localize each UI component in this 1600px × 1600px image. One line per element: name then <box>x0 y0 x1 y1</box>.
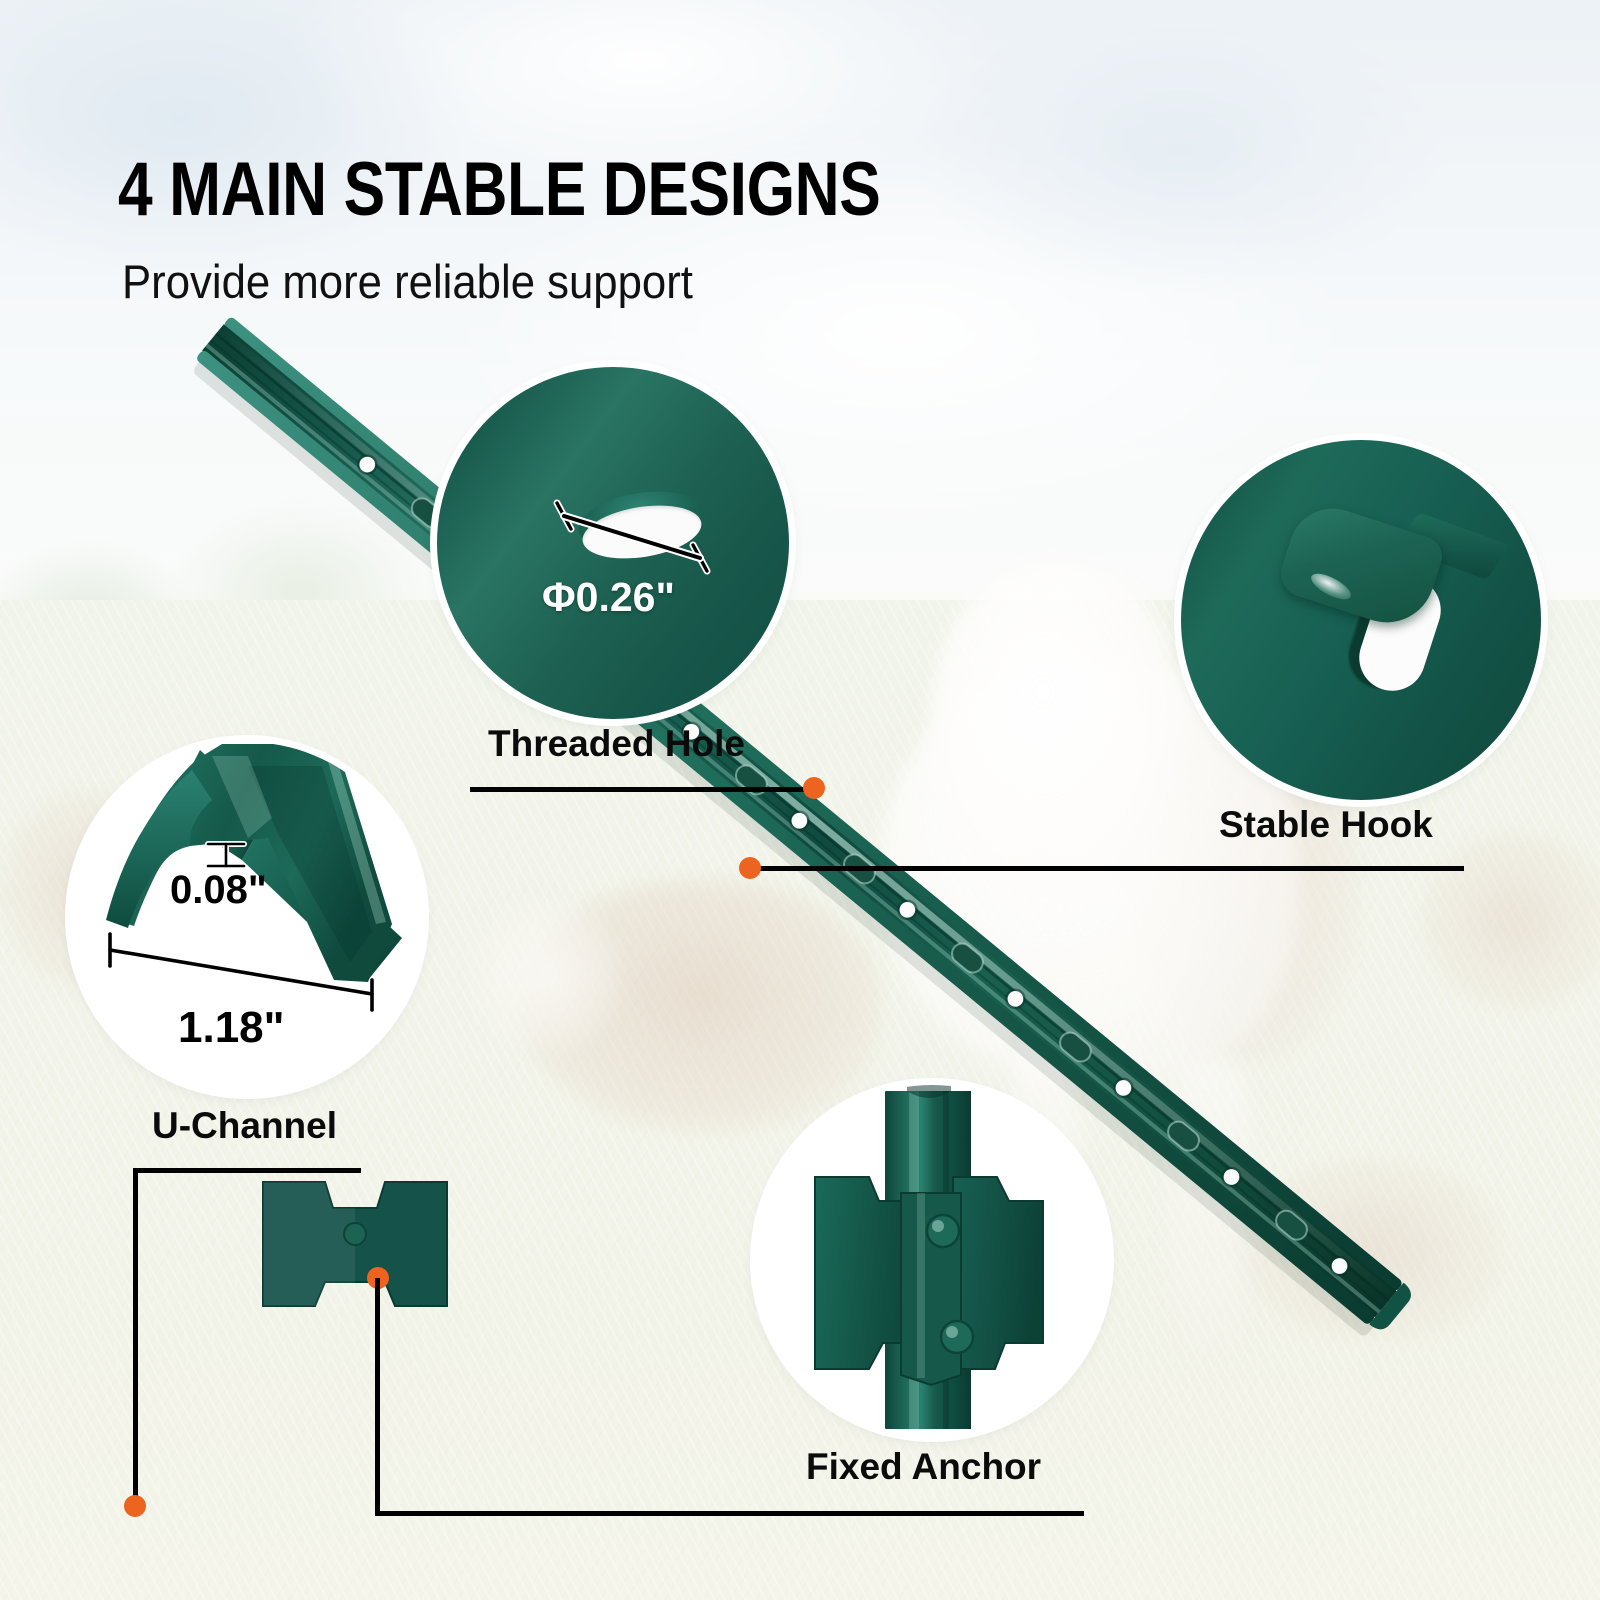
leader-line-fixed-anchor-horizontal <box>375 1511 1084 1516</box>
u-channel-width-text: 1.18" <box>178 1006 285 1050</box>
marker-dot-u-channel <box>124 1495 146 1517</box>
label-u-channel: U-Channel <box>152 1107 337 1144</box>
marker-dot-threaded-hole <box>803 777 825 799</box>
leader-line-stable-hook <box>748 866 1464 871</box>
marker-dot-stable-hook <box>739 857 761 879</box>
anchor-rivet <box>941 1321 973 1353</box>
label-stable-hook: Stable Hook <box>1219 806 1433 843</box>
leader-line-u-channel-vertical <box>133 1168 138 1506</box>
callout-stable-hook <box>1181 440 1541 800</box>
callout-threaded-hole: Φ0.26" <box>437 367 789 719</box>
page-subtitle: Provide more reliable support <box>122 258 693 305</box>
callout-u-channel: 0.08" 1.18" <box>72 742 422 1092</box>
anchor-rivet <box>927 1215 959 1247</box>
product-feature-graphic: 4 MAIN STABLE DESIGNS Provide more relia… <box>0 0 1600 1600</box>
threaded-hole-dimension-text: Φ0.26" <box>542 577 675 618</box>
u-channel-thickness-text: 0.08" <box>170 870 267 910</box>
page-title: 4 MAIN STABLE DESIGNS <box>118 152 880 228</box>
leader-line-threaded-hole <box>470 787 818 792</box>
fixed-anchor-closeup <box>757 1085 1107 1435</box>
label-threaded-hole: Threaded Hole <box>488 725 745 762</box>
label-fixed-anchor: Fixed Anchor <box>806 1448 1041 1485</box>
diameter-dimension-marker <box>437 367 789 719</box>
leader-line-fixed-anchor-vertical <box>375 1278 380 1516</box>
callout-fixed-anchor <box>757 1085 1107 1435</box>
leader-line-u-channel-horizontal <box>133 1168 361 1173</box>
